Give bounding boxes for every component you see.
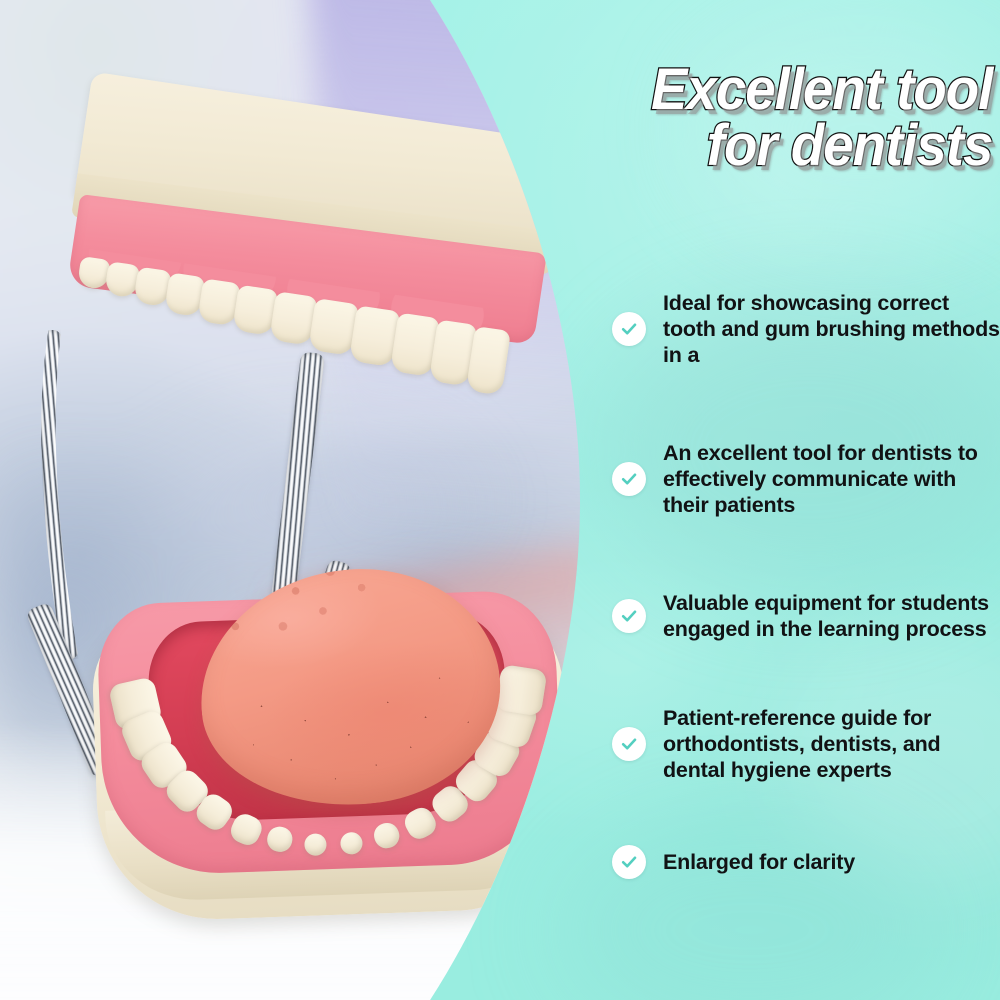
tongue — [189, 555, 512, 820]
feature-item-label: Enlarged for clarity — [663, 849, 855, 875]
lower-tooth — [304, 833, 327, 856]
feature-item: Valuable equipment for students engaged … — [612, 590, 1000, 642]
check-circle-icon — [612, 599, 646, 633]
promo-banner: Excellent tool for dentists Ideal for sh… — [0, 0, 1000, 1000]
check-circle-icon — [612, 462, 646, 496]
headline-line-2: for dentists — [586, 118, 992, 174]
feature-item: Ideal for showcasing correct tooth and g… — [612, 290, 1000, 369]
feature-item: An excellent tool for dentists to effect… — [612, 440, 1000, 519]
lower-tooth — [371, 820, 403, 852]
check-circle-icon — [612, 845, 646, 879]
headline-line-1: Excellent tool — [586, 62, 992, 118]
check-circle-icon — [612, 727, 646, 761]
feature-item: Enlarged for clarity — [612, 845, 1000, 879]
feature-item-label: Patient-reference guide for orthodontist… — [663, 705, 1000, 784]
content-column: Excellent tool for dentists Ideal for sh… — [560, 0, 1000, 1000]
feature-item-label: Valuable equipment for students engaged … — [663, 590, 1000, 642]
lower-tooth — [265, 825, 295, 855]
page-title: Excellent tool for dentists — [586, 62, 998, 173]
feature-item: Patient-reference guide for orthodontist… — [612, 705, 1000, 784]
tongue-speckle-texture — [189, 555, 512, 820]
feature-item-label: An excellent tool for dentists to effect… — [663, 440, 1000, 519]
feature-item-label: Ideal for showcasing correct tooth and g… — [663, 290, 1000, 369]
check-circle-icon — [612, 312, 646, 346]
